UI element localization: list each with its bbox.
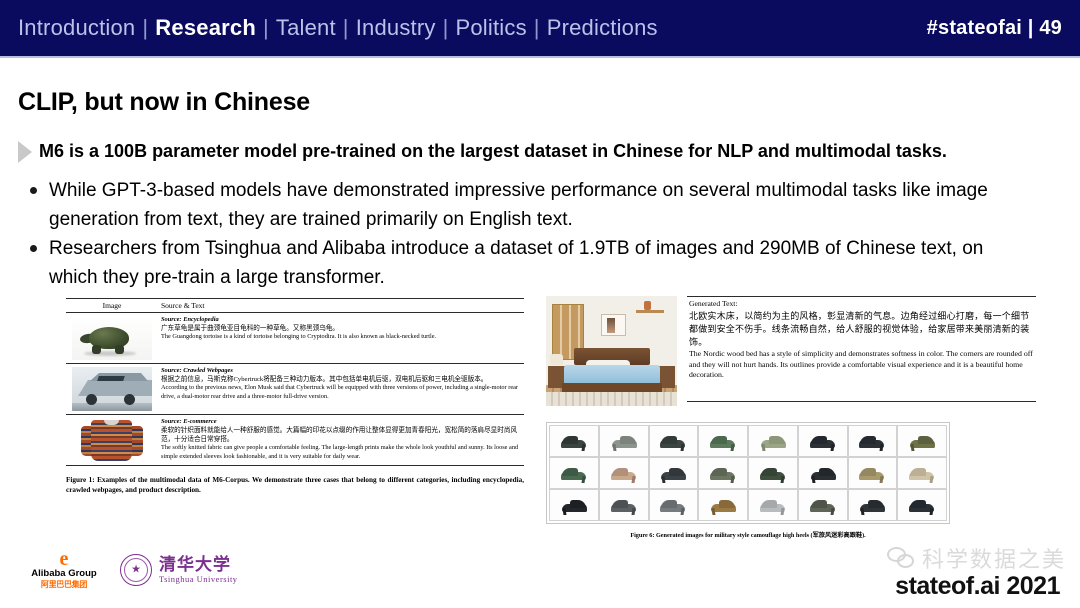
table-cell-text: Source: Crawled Webpages 根据之前信息，马斯克称Cybe… [158,367,524,411]
figure-left-m6-corpus: Image Source & Text Source: Encyclopedia… [66,298,524,495]
generated-shoe-image [907,431,937,451]
cybertruck-photo [72,367,152,411]
shoe-cell [549,489,599,521]
shoe-cell [549,425,599,457]
shoe-cell [798,457,848,489]
top-navigation-bar: Introduction | Research | Talent | Indus… [0,0,1080,58]
table-row: Source: Encyclopedia 广东草龟是属于曲颈龟亚目龟科的一种草龟… [66,313,524,364]
sweater-photo [72,418,152,462]
generated-shoe-image [808,495,838,515]
turtle-photo [72,316,152,360]
shoe-cell [897,425,947,457]
shoe-cell [848,425,898,457]
row-chinese-text: 广东草龟是属于曲颈龟亚目龟科的一种草龟。又称黑颈乌龟。 [161,324,524,333]
nav-item-talent[interactable]: Talent [276,15,336,41]
bullet-dot-icon [30,245,37,252]
row-source-label: Source: E-commerce [161,418,524,426]
hashtag-and-page-number: #stateofai | 49 [927,0,1062,56]
shoe-cell [848,489,898,521]
shoe-cell [649,425,699,457]
generated-shoe-image [758,495,788,515]
table-row: Source: Crawled Webpages 根据之前信息，马斯克称Cybe… [66,364,524,415]
wechat-watermark: 科学数据之美 [887,542,1066,574]
shoe-cell [599,457,649,489]
generated-shoe-image [857,495,887,515]
nav-separator: | [443,15,449,41]
figure-left-caption: Figure 1: Examples of the multimodal dat… [66,475,524,495]
nav-item-industry[interactable]: Industry [356,15,436,41]
row-chinese-text: 根据之前信息，马斯克称Cybertruck将配备三种动力版本。其中包括单电机后驱… [161,375,524,384]
generated-shoe-image [808,431,838,451]
nav-item-politics[interactable]: Politics [456,15,527,41]
generated-shoe-image [907,495,937,515]
shoe-cell [897,457,947,489]
shoe-cell [698,457,748,489]
column-header-source-text: Source & Text [158,301,524,310]
generated-shoe-image [609,495,639,515]
row-english-text: The Guangdong tortoise is a kind of tort… [161,333,524,342]
table-cell-text: Source: E-commerce 柔软的针织面料就能给人一种舒服的感觉。大篇… [158,418,524,462]
shoe-cell [897,489,947,521]
alibaba-logo: e Alibaba Group 阿里巴巴集团 [26,550,102,590]
generated-shoe-image [708,463,738,483]
bullet-list: While GPT-3-based models have demonstrat… [22,176,1037,292]
row-source-label: Source: Crawled Webpages [161,367,524,375]
generated-shoe-image [708,431,738,451]
shoe-cell [649,457,699,489]
generated-text-panel: Generated Text: 北欧实木床，以简约为主的风格，彰显清新的气息。边… [546,296,1036,406]
row-english-text: The softly knitted fabric can give peopl… [161,444,524,461]
table-cell-image [66,418,158,462]
lead-statement-text: M6 is a 100B parameter model pre-trained… [39,140,947,162]
bullet-text: Researchers from Tsinghua and Alibaba in… [49,234,1037,292]
shoe-cell [748,425,798,457]
generated-shoe-image [559,431,589,451]
alibaba-mark-icon: e [26,550,102,568]
table-cell-image [66,316,158,360]
row-source-label: Source: Encyclopedia [161,316,524,324]
shoe-cell [698,489,748,521]
nav-separator: | [263,15,269,41]
shoe-cell [549,457,599,489]
shoe-cell [798,425,848,457]
generated-shoe-image [808,463,838,483]
generated-text-label: Generated Text: [689,299,1036,310]
generated-text-chinese: 北欧实木床，以简约为主的风格，彰显清新的气息。边角经过细心打磨，每一个细节都做到… [689,310,1036,350]
generated-shoe-image [658,431,688,451]
shoe-cell [599,425,649,457]
alibaba-name-cn: 阿里巴巴集团 [26,579,102,590]
list-item: While GPT-3-based models have demonstrat… [22,176,1037,234]
generated-text-block: Generated Text: 北欧实木床，以简约为主的风格，彰显清新的气息。边… [687,296,1036,402]
generated-shoe-image [559,495,589,515]
table-row: Source: E-commerce 柔软的针织面料就能给人一种舒服的感觉。大篇… [66,415,524,465]
nav-item-introduction[interactable]: Introduction [18,15,135,41]
bullet-dot-icon [30,187,37,194]
shoe-cell [748,489,798,521]
generated-shoes-panel [546,422,950,524]
figure-right-generated-samples: Generated Text: 北欧实木床，以简约为主的风格，彰显清新的气息。边… [546,296,1036,539]
watermark-text: 科学数据之美 [922,542,1066,574]
figure-right-caption: Figure 6: Generated images for military … [546,530,950,539]
nav-separator: | [343,15,349,41]
generated-shoe-image [559,463,589,483]
lead-statement: M6 is a 100B parameter model pre-trained… [18,140,947,163]
wechat-icon [887,546,917,570]
tsinghua-seal-icon: ★ [120,554,152,586]
shoe-cell [599,489,649,521]
shoe-cell [748,457,798,489]
stateof-ai-logo: stateof.ai 2021 [895,572,1060,601]
shoe-cell [649,489,699,521]
list-item: Researchers from Tsinghua and Alibaba in… [22,234,1037,292]
table-cell-text: Source: Encyclopedia 广东草龟是属于曲颈龟亚目龟科的一种草龟… [158,316,524,360]
generated-shoe-image [658,463,688,483]
shoe-cell [798,489,848,521]
generated-shoe-image [857,463,887,483]
corpus-examples-table: Image Source & Text Source: Encyclopedia… [66,298,524,466]
table-cell-image [66,367,158,411]
generated-shoe-image [609,463,639,483]
nav-separator: | [142,15,148,41]
partner-logos: e Alibaba Group 阿里巴巴集团 ★ 清华大学 Tsinghua U… [26,550,238,590]
generated-text-english: The Nordic wood bed has a style of simpl… [689,349,1036,381]
bullet-text: While GPT-3-based models have demonstrat… [49,176,1037,234]
generated-shoe-image [758,463,788,483]
section-nav: Introduction | Research | Talent | Indus… [18,0,658,56]
triangle-bullet-icon [18,141,32,163]
shoe-image-grid [549,425,947,521]
generated-shoe-image [658,495,688,515]
row-chinese-text: 柔软的针织面料就能给人一种舒服的感觉。大篇幅的印花以点缀的作用让整体显得更加青春… [161,426,524,444]
column-header-image: Image [66,301,158,310]
generated-shoe-image [758,431,788,451]
tsinghua-name-en: Tsinghua University [159,574,238,584]
tsinghua-name-cn: 清华大学 [159,556,238,574]
tsinghua-logo: ★ 清华大学 Tsinghua University [120,554,238,586]
nav-separator: | [534,15,540,41]
generated-shoe-image [609,431,639,451]
nav-item-research[interactable]: Research [155,15,256,41]
alibaba-name-en: Alibaba Group [26,568,102,579]
page-title: CLIP, but now in Chinese [18,88,310,117]
shoe-cell [698,425,748,457]
generated-shoe-image [708,495,738,515]
generated-shoe-image [857,431,887,451]
shoe-cell [848,457,898,489]
row-english-text: According to the previous news, Elon Mus… [161,384,524,401]
table-header-row: Image Source & Text [66,299,524,313]
bedroom-photo [546,296,677,406]
generated-shoe-image [907,463,937,483]
nav-item-predictions[interactable]: Predictions [547,15,658,41]
